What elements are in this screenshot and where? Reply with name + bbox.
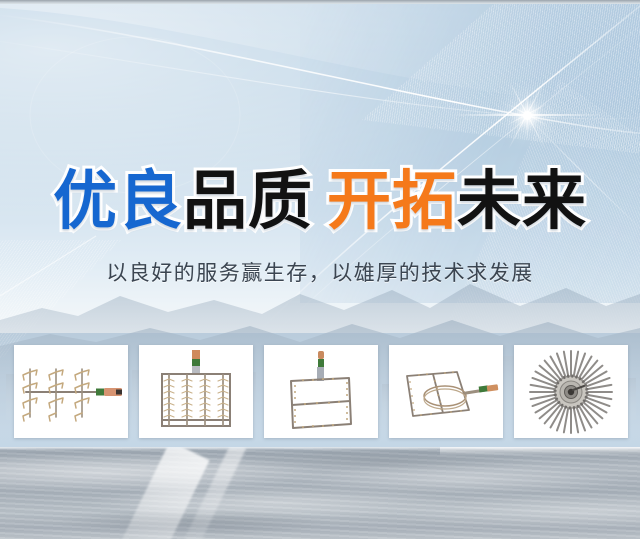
product-card-rectangular-hanging-frame[interactable] bbox=[264, 345, 378, 438]
ground-texture bbox=[0, 447, 640, 539]
subtitle: 以良好的服务赢生存，以雄厚的技术求发展 bbox=[0, 258, 640, 288]
comb-hook-frame-icon bbox=[146, 348, 246, 436]
rectangular-hanging-frame-icon bbox=[271, 348, 371, 436]
headline-segment-3: 开拓 bbox=[327, 163, 457, 241]
product-card-branched-hanging-rack[interactable] bbox=[14, 345, 128, 438]
branched-hanging-rack-icon bbox=[16, 349, 126, 435]
headline-spacer bbox=[313, 163, 327, 241]
product-card-radial-spoke-fixture[interactable] bbox=[514, 345, 628, 438]
headline: 优良品质 开拓未来 bbox=[0, 163, 640, 241]
top-border-strip bbox=[0, 0, 640, 4]
radial-spoke-fixture-icon bbox=[525, 349, 617, 435]
promo-banner: 优良品质 开拓未来 以良好的服务赢生存，以雄厚的技术求发展 bbox=[0, 0, 640, 539]
headline-segment-4: 未来 bbox=[457, 163, 587, 241]
headline-segment-2: 品质 bbox=[183, 163, 313, 241]
product-card-row bbox=[14, 345, 628, 438]
headline-segment-1: 优良 bbox=[53, 163, 183, 241]
product-card-comb-hook-frame[interactable] bbox=[139, 345, 253, 438]
product-card-flat-frame-with-ring[interactable] bbox=[389, 345, 503, 438]
flat-frame-with-ring-icon bbox=[393, 352, 499, 432]
concrete-ground bbox=[0, 447, 640, 539]
ground-reflection bbox=[440, 447, 640, 456]
